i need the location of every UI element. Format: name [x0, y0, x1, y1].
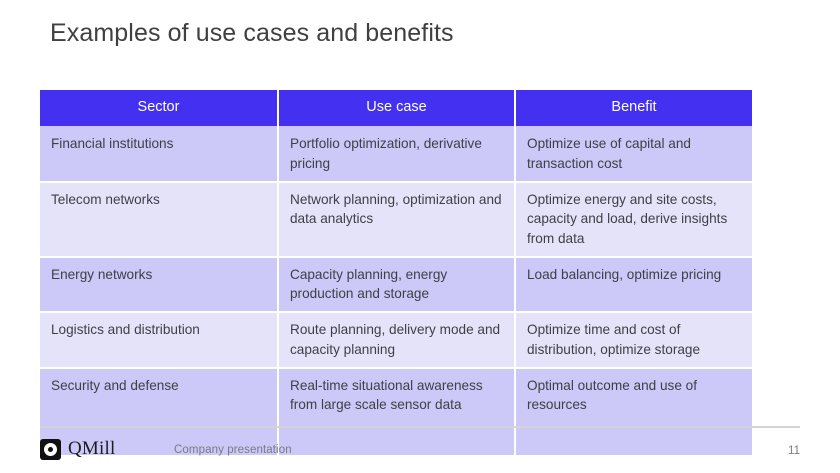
table-header: Sector Use case Benefit [40, 90, 752, 126]
cell-use-case: Route planning, delivery mode and capaci… [279, 313, 516, 369]
footer-note: Company presentation [174, 444, 292, 456]
column-header-use-case: Use case [279, 90, 516, 126]
table-body: Financial institutions Portfolio optimiz… [40, 126, 752, 454]
use-cases-table: Sector Use case Benefit Financial instit… [40, 90, 752, 455]
qmill-logo-ring [44, 443, 57, 456]
use-cases-table-container: Sector Use case Benefit Financial instit… [40, 90, 752, 455]
table-row: Energy networks Capacity planning, energ… [40, 258, 752, 314]
brand-lockup: QMill [40, 438, 115, 460]
cell-use-case: Network planning, optimization and data … [279, 183, 516, 258]
qmill-logo-icon [40, 439, 61, 460]
qmill-logo-dot [48, 447, 53, 452]
footer-divider [40, 426, 800, 428]
table-row: Telecom networks Network planning, optim… [40, 183, 752, 258]
page-title: Examples of use cases and benefits [50, 19, 454, 48]
table-header-row: Sector Use case Benefit [40, 90, 752, 126]
cell-benefit: Optimize use of capital and transaction … [516, 126, 752, 183]
column-header-benefit: Benefit [516, 90, 752, 126]
page-number: 11 [788, 445, 800, 457]
cell-sector: Telecom networks [40, 183, 279, 258]
cell-benefit: Load balancing, optimize pricing [516, 258, 752, 314]
brand-name: QMill [68, 438, 115, 460]
cell-benefit: Optimize time and cost of distribution, … [516, 313, 752, 369]
cell-sector: Financial institutions [40, 126, 279, 183]
cell-sector: Logistics and distribution [40, 313, 279, 369]
cell-use-case: Portfolio optimization, derivative prici… [279, 126, 516, 183]
column-header-sector: Sector [40, 90, 279, 126]
cell-use-case: Capacity planning, energy production and… [279, 258, 516, 314]
table-row: Financial institutions Portfolio optimiz… [40, 126, 752, 183]
cell-benefit: Optimize energy and site costs, capacity… [516, 183, 752, 258]
slide-footer: QMill Company presentation 11 [40, 436, 800, 466]
cell-sector: Energy networks [40, 258, 279, 314]
table-row: Logistics and distribution Route plannin… [40, 313, 752, 369]
